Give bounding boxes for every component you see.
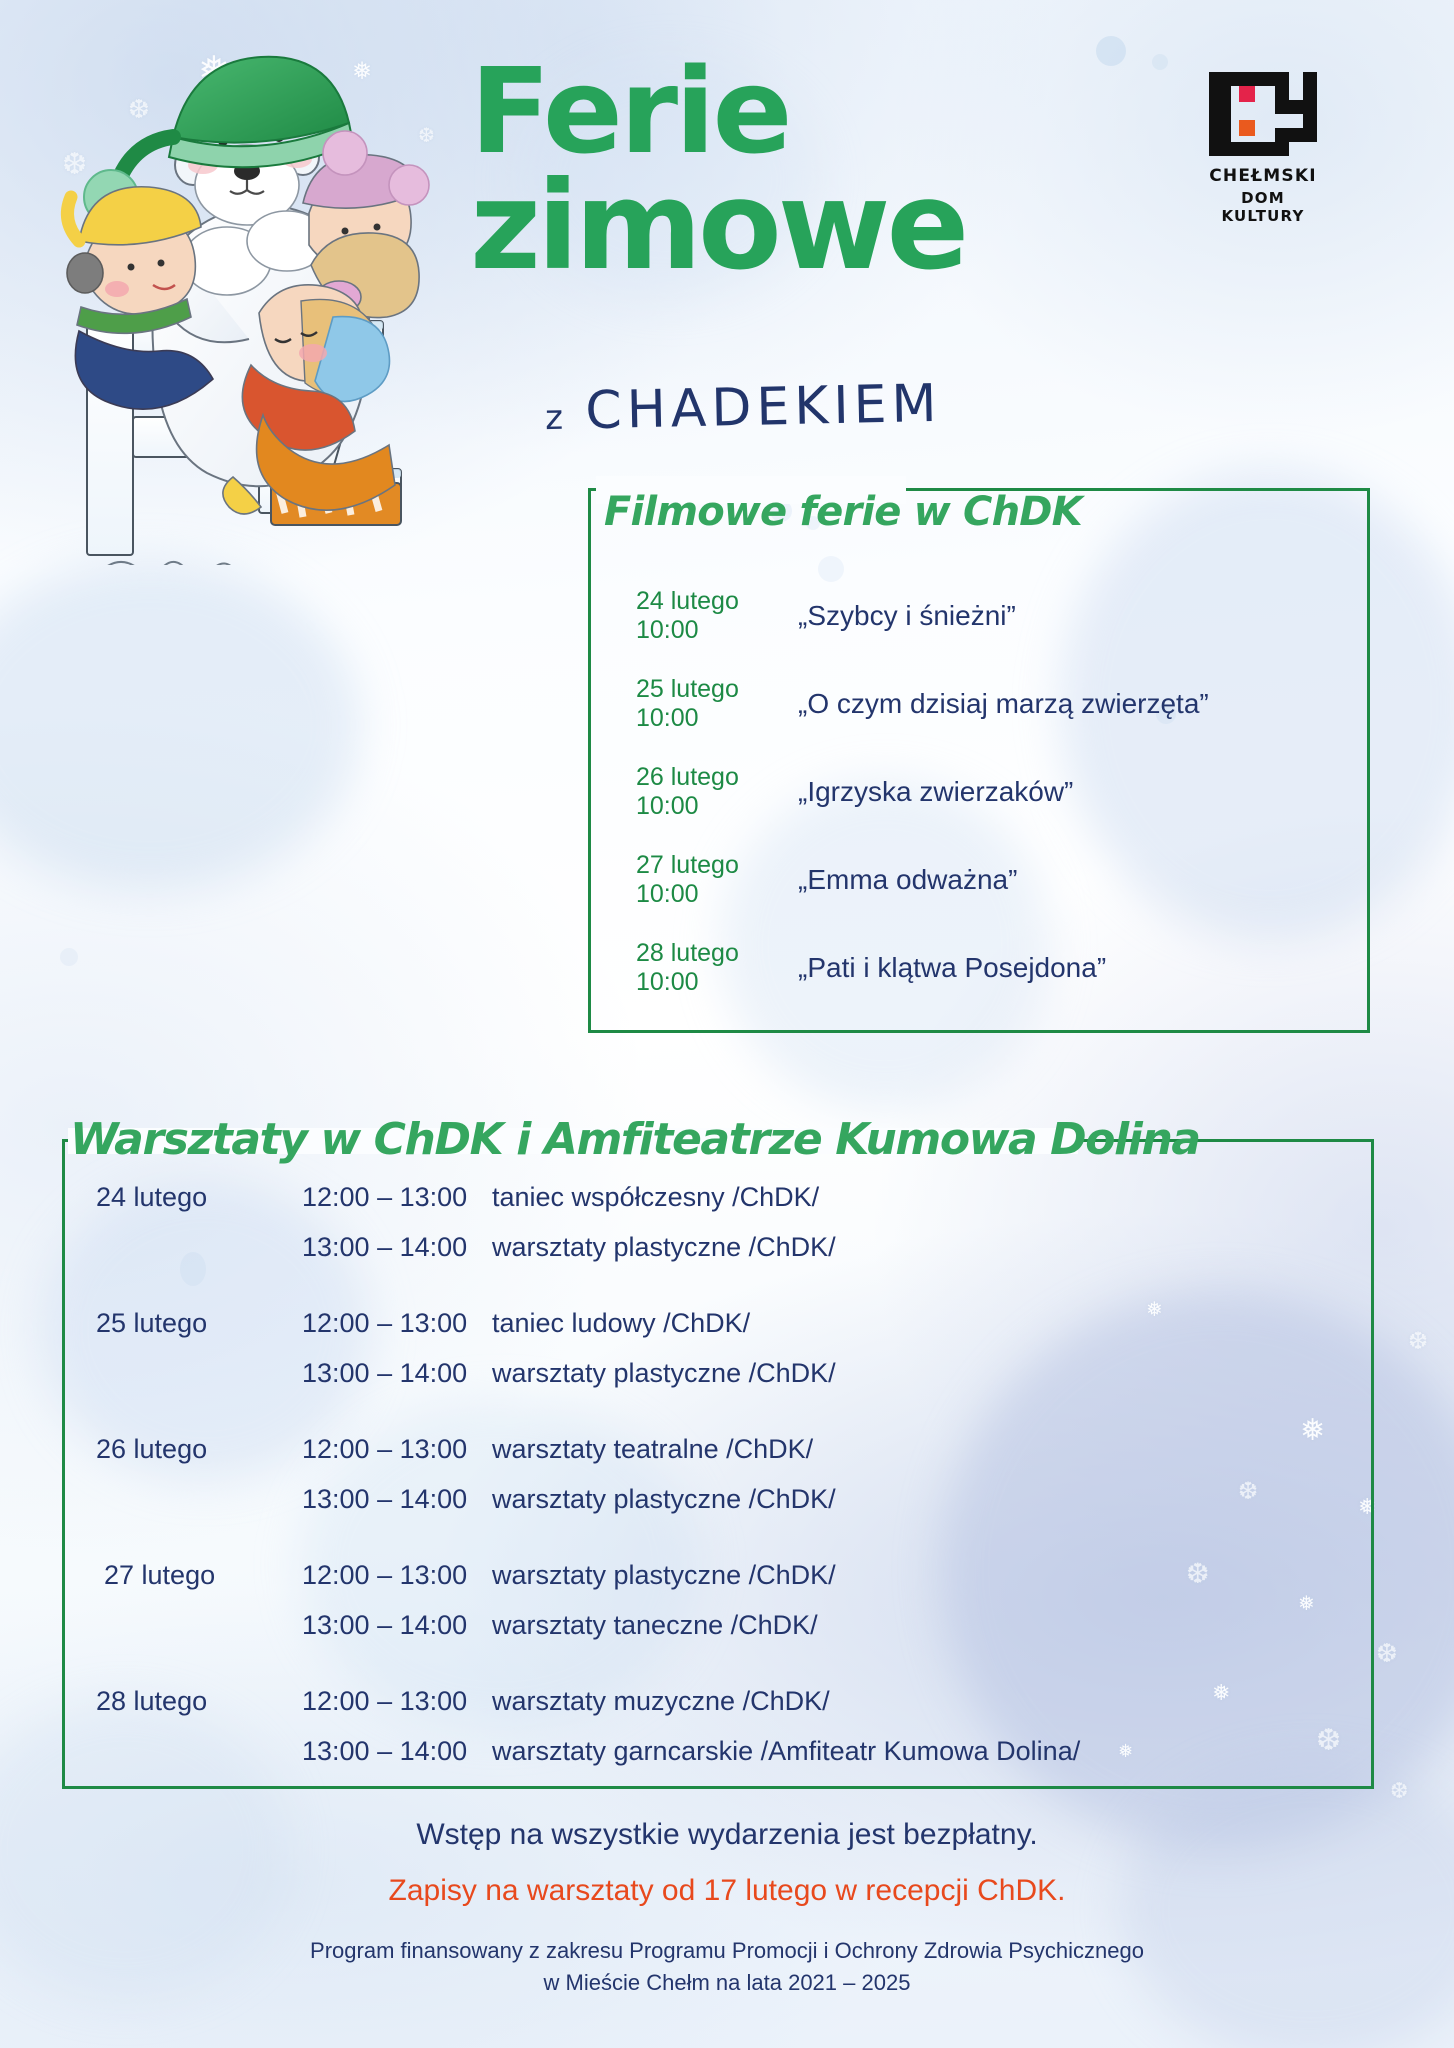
bubble-decor — [1096, 36, 1126, 66]
title-line-2: zimowe — [470, 168, 1060, 285]
film-title: „Emma odważna” — [770, 864, 1017, 896]
film-date: 24 lutego — [636, 587, 770, 617]
workshop-time: 12:00 – 13:00 — [302, 1182, 492, 1213]
chdk-logo: CHEŁMSKI DOM KULTURY — [1203, 72, 1323, 225]
workshop-name: warsztaty plastyczne /ChDK/ — [492, 1484, 836, 1515]
workshop-row: 13:00 – 14:00 warsztaty plastyczne /ChDK… — [96, 1484, 1376, 1534]
film-row: 26 lutego 10:00 „Igrzyska zwierzaków” — [636, 748, 1366, 836]
subtitle-preposition: z — [545, 398, 565, 438]
film-datetime: 26 lutego 10:00 — [636, 763, 770, 822]
funding-line-1: Program finansowany z zakresu Programu P… — [0, 1938, 1454, 1964]
film-title: „Pati i klątwa Posejdona” — [770, 952, 1106, 984]
workshop-time: 13:00 – 14:00 — [302, 1358, 492, 1389]
subtitle-mascot-name: CHADEKIEM — [585, 374, 942, 441]
workshop-row: 13:00 – 14:00 warsztaty plastyczne /ChDK… — [96, 1358, 1376, 1408]
background-blob — [0, 560, 360, 890]
film-row: 27 lutego 10:00 „Emma odważna” — [636, 836, 1366, 924]
workshop-row: 28 lutego 12:00 – 13:00 warsztaty muzycz… — [96, 1686, 1376, 1736]
workshop-day: 26 lutego 12:00 – 13:00 warsztaty teatra… — [96, 1434, 1376, 1534]
film-datetime: 27 lutego 10:00 — [636, 851, 770, 910]
workshop-time: 13:00 – 14:00 — [302, 1736, 492, 1767]
film-title: „Igrzyska zwierzaków” — [770, 776, 1073, 808]
workshop-row: 13:00 – 14:00 warsztaty garncarskie /Amf… — [96, 1736, 1376, 1786]
film-datetime: 28 lutego 10:00 — [636, 939, 770, 998]
film-datetime: 24 lutego 10:00 — [636, 587, 770, 646]
film-title: „Szybcy i śnieżni” — [770, 600, 1016, 632]
films-section-heading: Filmowe ferie w ChDK — [604, 489, 1082, 535]
workshop-time: 12:00 – 13:00 — [302, 1686, 492, 1717]
film-title: „O czym dzisiaj marzą zwierzęta” — [770, 688, 1209, 720]
film-date: 26 lutego — [636, 763, 770, 793]
workshop-row: 13:00 – 14:00 warsztaty taneczne /ChDK/ — [96, 1610, 1376, 1660]
workshop-time: 12:00 – 13:00 — [302, 1560, 492, 1591]
workshop-name: taniec ludowy /ChDK/ — [492, 1308, 750, 1339]
film-time: 10:00 — [636, 616, 770, 646]
logo-name-line-1: CHEŁMSKI — [1203, 166, 1323, 186]
workshop-date: 27 lutego — [96, 1560, 302, 1591]
bubble-decor — [1152, 54, 1168, 70]
workshop-day: 28 lutego 12:00 – 13:00 warsztaty muzycz… — [96, 1686, 1376, 1786]
poster-subtitle: z CHADEKIEM — [544, 374, 942, 442]
logo-name-line-2: DOM KULTURY — [1203, 189, 1323, 225]
workshop-time: 13:00 – 14:00 — [302, 1232, 492, 1263]
film-row: 24 lutego 10:00 „Szybcy i śnieżni” — [636, 572, 1366, 660]
film-row: 25 lutego 10:00 „O czym dzisiaj marzą zw… — [636, 660, 1366, 748]
snowflake-icon: ❆ — [1408, 1330, 1428, 1354]
bubble-decor — [60, 948, 78, 966]
title-line-1: Ferie — [470, 55, 1060, 168]
workshop-row: 27 lutego 12:00 – 13:00 warsztaty plasty… — [96, 1560, 1376, 1610]
workshop-time: 13:00 – 14:00 — [302, 1484, 492, 1515]
funding-line-2: w Mieście Chełm na lata 2021 – 2025 — [0, 1970, 1454, 1996]
film-date: 27 lutego — [636, 851, 770, 881]
film-datetime: 25 lutego 10:00 — [636, 675, 770, 734]
film-row: 28 lutego 10:00 „Pati i klątwa Posejdona… — [636, 924, 1366, 1012]
workshop-date: 24 lutego — [96, 1182, 302, 1213]
workshop-row: 13:00 – 14:00 warsztaty plastyczne /ChDK… — [96, 1232, 1376, 1282]
workshops-list: 24 lutego 12:00 – 13:00 taniec współczes… — [96, 1182, 1376, 1786]
workshop-day: 27 lutego 12:00 – 13:00 warsztaty plasty… — [96, 1560, 1376, 1660]
workshop-day: 24 lutego 12:00 – 13:00 taniec współczes… — [96, 1182, 1376, 1282]
workshop-date: 26 lutego — [96, 1434, 302, 1465]
film-date: 25 lutego — [636, 675, 770, 705]
workshop-row: 26 lutego 12:00 – 13:00 warsztaty teatra… — [96, 1434, 1376, 1484]
film-time: 10:00 — [636, 880, 770, 910]
film-date: 28 lutego — [636, 939, 770, 969]
workshop-row: 25 lutego 12:00 – 13:00 taniec ludowy /C… — [96, 1308, 1376, 1358]
workshop-name: warsztaty garncarskie /Amfiteatr Kumowa … — [492, 1736, 1080, 1767]
bear-and-children-illustration — [45, 45, 465, 565]
film-time: 10:00 — [636, 704, 770, 734]
workshop-time: 13:00 – 14:00 — [302, 1610, 492, 1641]
poster-footer: Wstęp na wszystkie wydarzenia jest bezpł… — [0, 1818, 1454, 1996]
workshop-time: 12:00 – 13:00 — [302, 1434, 492, 1465]
workshop-day: 25 lutego 12:00 – 13:00 taniec ludowy /C… — [96, 1308, 1376, 1408]
snowflake-icon: ❆ — [1390, 1780, 1408, 1802]
film-time: 10:00 — [636, 792, 770, 822]
workshop-name: warsztaty plastyczne /ChDK/ — [492, 1232, 836, 1263]
workshop-date: 25 lutego — [96, 1308, 302, 1339]
workshop-name: warsztaty taneczne /ChDK/ — [492, 1610, 818, 1641]
films-list: 24 lutego 10:00 „Szybcy i śnieżni” 25 lu… — [636, 572, 1366, 1012]
snowflake-icon: ❆ — [1376, 1640, 1398, 1666]
poster-title: Ferie zimowe — [470, 55, 1060, 285]
signup-note: Zapisy na warsztaty od 17 lutego w recep… — [0, 1874, 1454, 1908]
workshops-section-heading: Warsztaty w ChDK i Amfiteatrze Kumowa Do… — [70, 1114, 1200, 1165]
chdk-monogram-icon — [1209, 72, 1317, 156]
film-time: 10:00 — [636, 968, 770, 998]
workshop-name: taniec współczesny /ChDK/ — [492, 1182, 819, 1213]
workshop-name: warsztaty muzyczne /ChDK/ — [492, 1686, 830, 1717]
free-entry-note: Wstęp na wszystkie wydarzenia jest bezpł… — [0, 1818, 1454, 1852]
workshop-name: warsztaty plastyczne /ChDK/ — [492, 1358, 836, 1389]
workshop-name: warsztaty teatralne /ChDK/ — [492, 1434, 813, 1465]
artist-signature — [97, 562, 237, 565]
workshop-name: warsztaty plastyczne /ChDK/ — [492, 1560, 836, 1591]
poster-root: ❅ ❆ ❅ ❆ ❅ ❆ ❅ ❆ ❅ ❆ ❅ ❆ ❅ ❆ ❅ ❆ ❅ ❆ — [0, 0, 1454, 2048]
workshop-time: 12:00 – 13:00 — [302, 1308, 492, 1339]
workshop-date: 28 lutego — [96, 1686, 302, 1717]
workshop-row: 24 lutego 12:00 – 13:00 taniec współczes… — [96, 1182, 1376, 1232]
